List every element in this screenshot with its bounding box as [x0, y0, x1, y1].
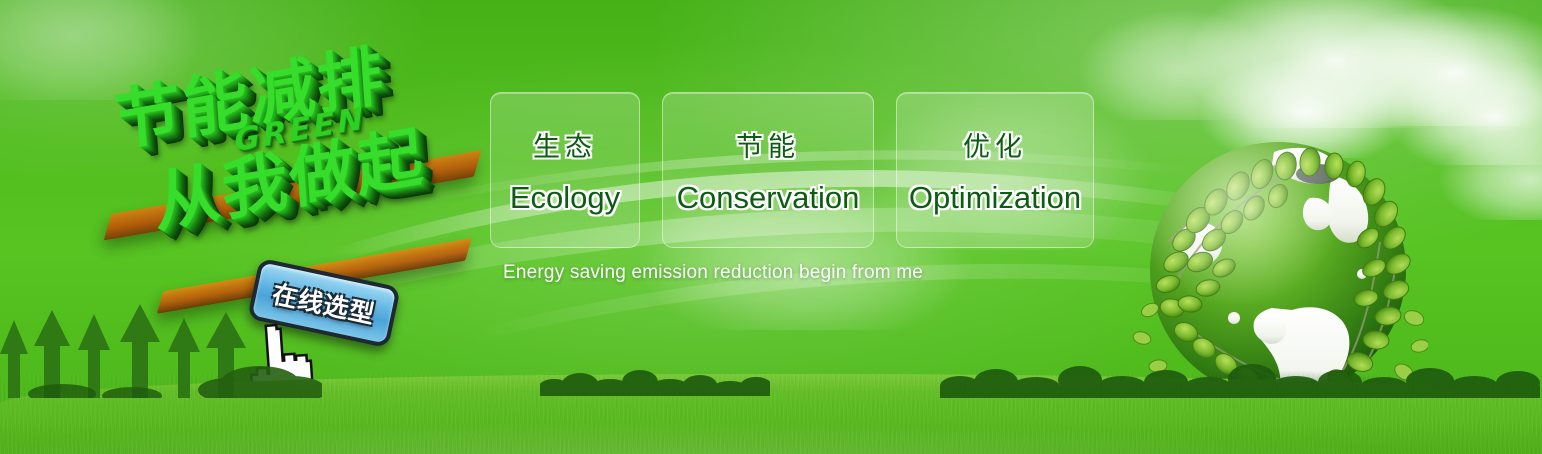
- feature-card-en-label: Ecology: [510, 180, 620, 216]
- feature-card-optimization[interactable]: 优化 Optimization: [896, 92, 1094, 248]
- green-energy-hero-banner: 节能减排 GREEN 从我做起 在线选型 生态 Ecology 节能 Conse…: [0, 0, 1542, 454]
- feature-card-conservation[interactable]: 节能 Conservation: [662, 92, 874, 248]
- online-selection-button-label: 在线选型: [269, 275, 378, 332]
- grass-field-icon: [0, 374, 1542, 454]
- cloud-icon: [1185, 0, 1485, 128]
- feature-card-ecology[interactable]: 生态 Ecology: [490, 92, 640, 248]
- headline-3d-text: 节能减排 GREEN 从我做起: [88, 20, 504, 297]
- feature-card-list: 生态 Ecology 节能 Conservation 优化 Optimizati…: [490, 92, 1094, 248]
- feature-card-cn-label: 优化: [963, 125, 1027, 164]
- feature-card-cn-label: 节能: [736, 125, 800, 164]
- cloud-icon: [1330, 6, 1542, 126]
- feature-card-en-label: Optimization: [909, 180, 1081, 216]
- grass-texture: [0, 374, 1542, 454]
- feature-card-cn-label: 生态: [533, 125, 597, 164]
- banner-tagline: Energy saving emission reduction begin f…: [503, 262, 923, 284]
- feature-card-en-label: Conservation: [677, 180, 860, 216]
- cloud-icon: [1440, 130, 1542, 220]
- cloud-icon: [1080, 10, 1280, 120]
